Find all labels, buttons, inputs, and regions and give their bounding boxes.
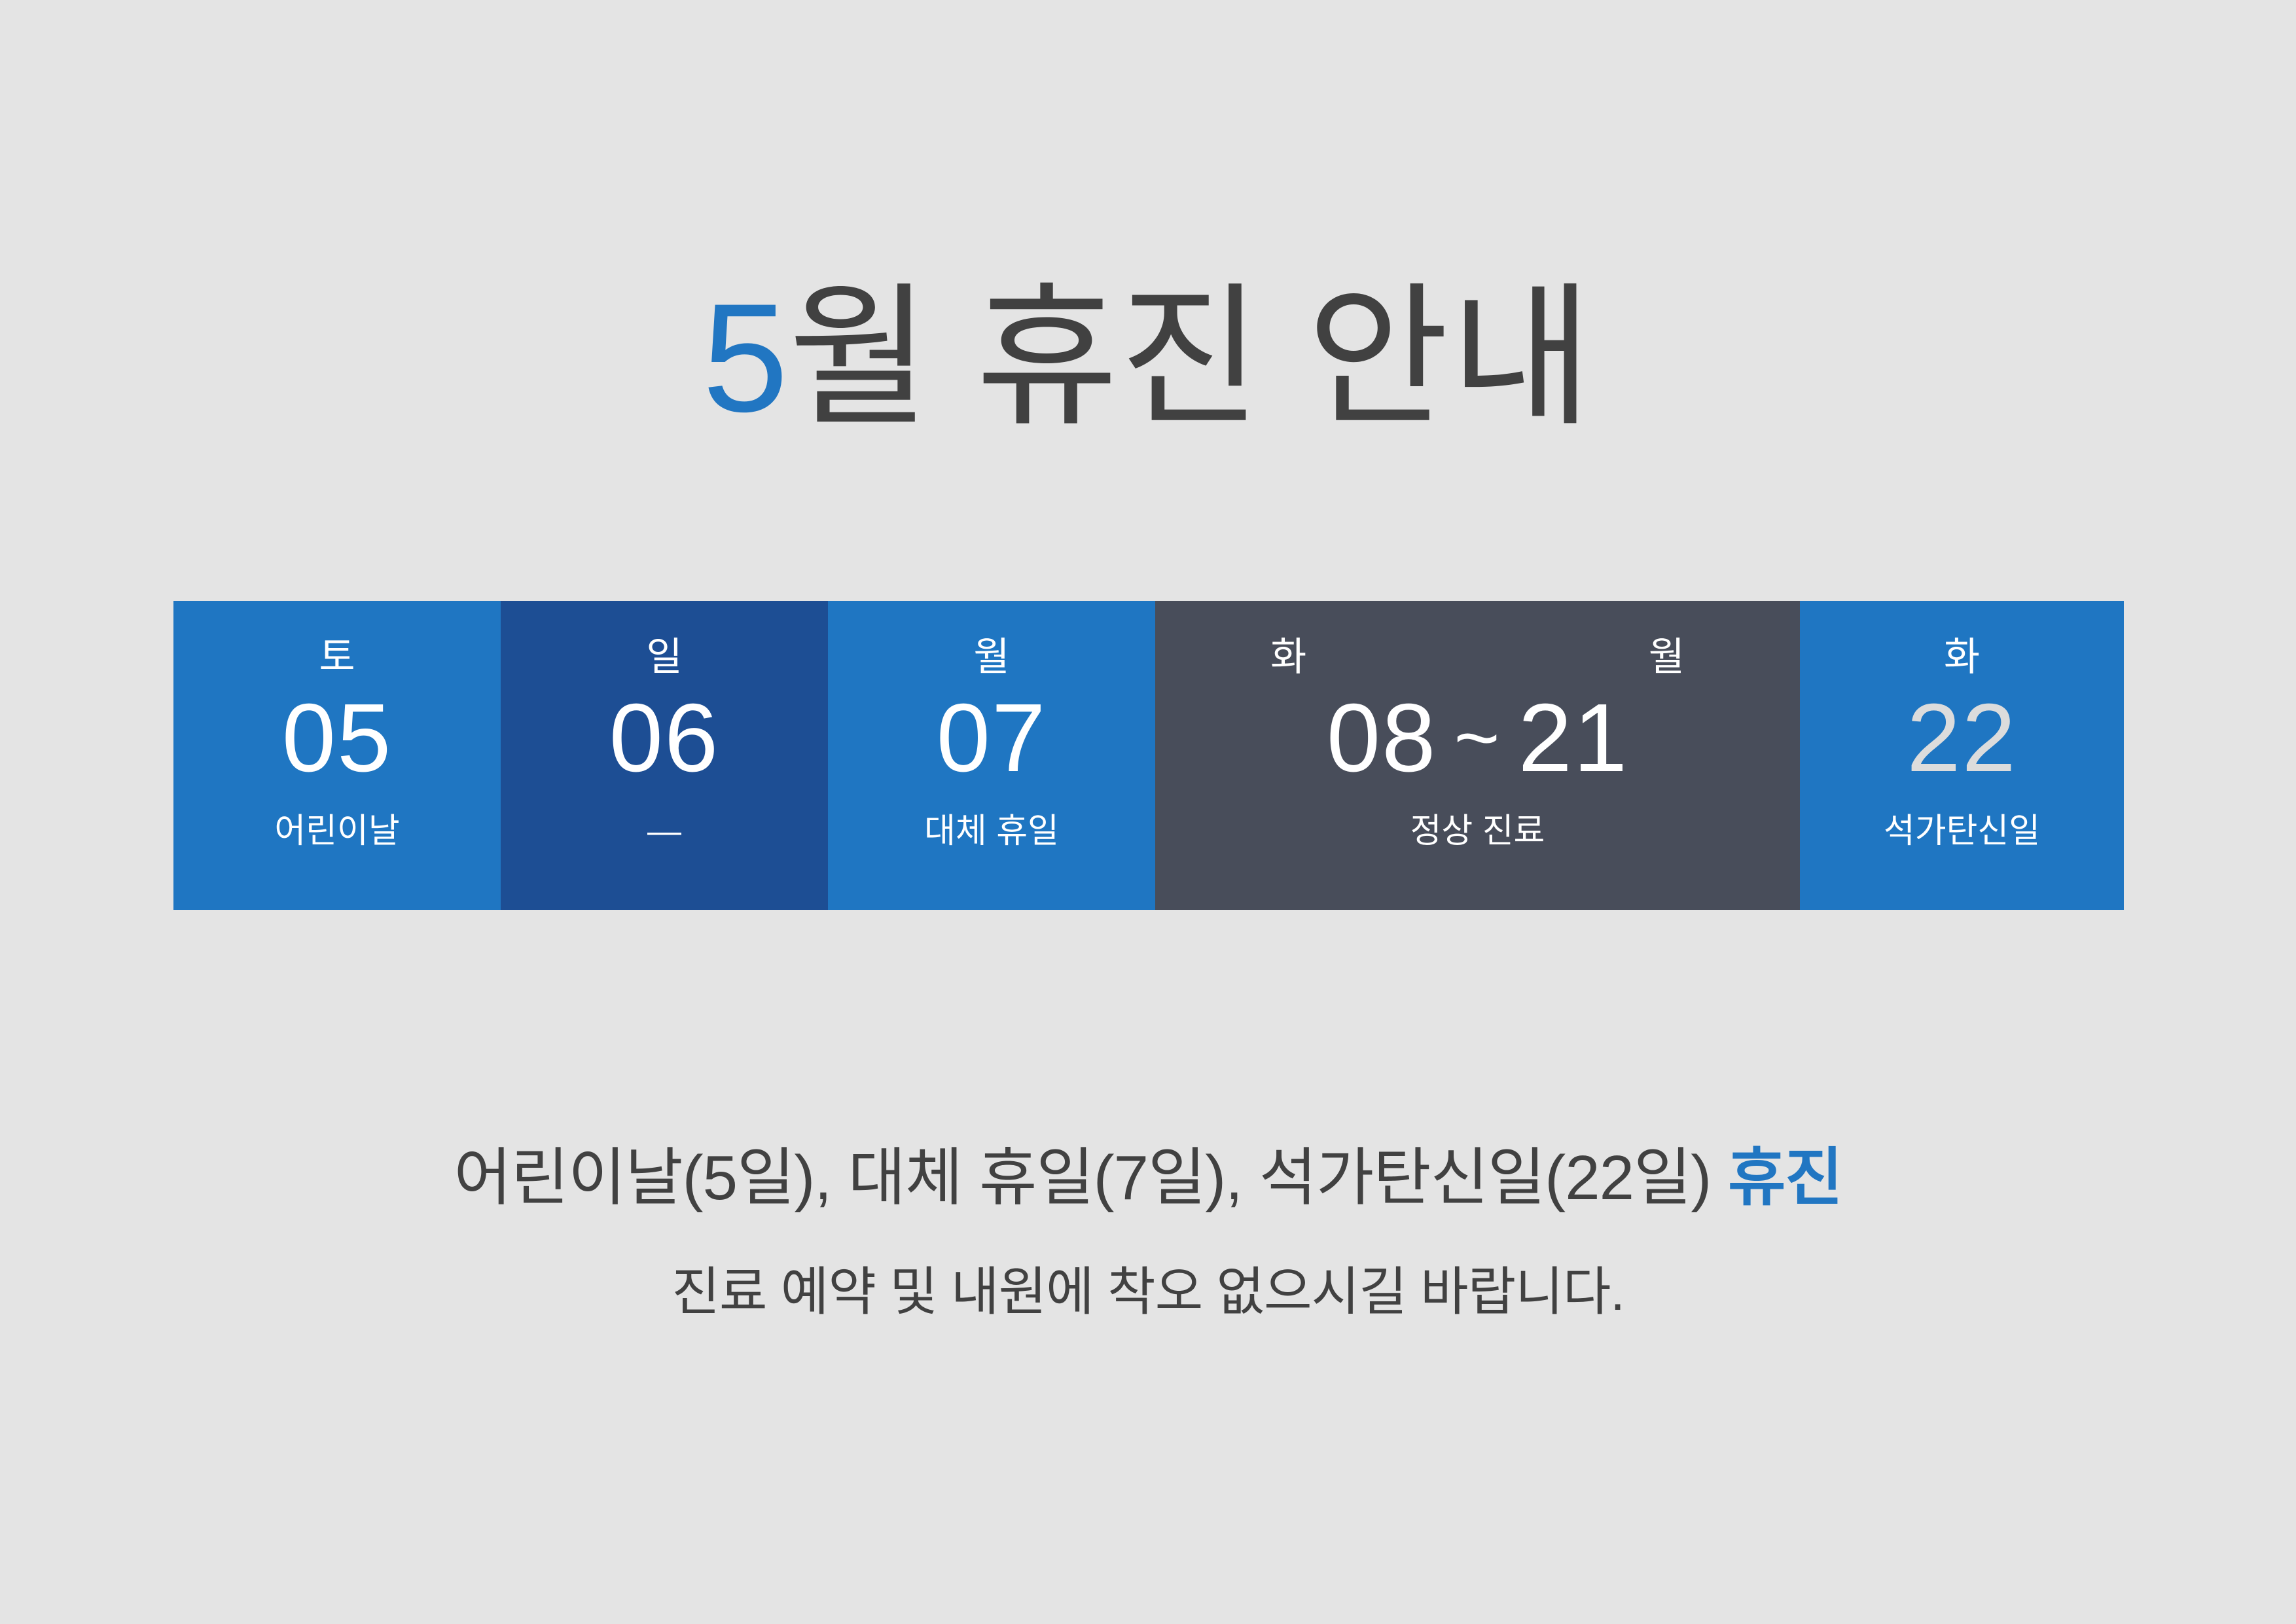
footer-line-advisory: 진료 예약 및 내원에 착오 없으시길 바랍니다. <box>0 1266 2296 1318</box>
title-month-number: 5 <box>702 272 788 444</box>
calendar-cell-22[interactable]: 화 22 석가탄신일 <box>1800 601 2124 910</box>
day-number-start: 08 <box>1327 684 1437 792</box>
weekday-label: 월 <box>973 638 1009 677</box>
title-rest-text: 월 휴진 안내 <box>788 272 1594 444</box>
footer-closed-highlight: 휴진 <box>1728 1143 1842 1213</box>
day-note: 대체 휴일 <box>924 814 1059 848</box>
calendar-cell-06[interactable]: 일 06 — <box>501 601 828 910</box>
weekday-row: 일 <box>501 638 828 686</box>
calendar-cell-05[interactable]: 토 05 어린이날 <box>173 601 501 910</box>
weekday-label: 일 <box>646 638 682 677</box>
weekday-row: 화 <box>1800 638 2124 686</box>
day-range-separator: ~ <box>1437 694 1518 782</box>
calendar-cell-07[interactable]: 월 07 대체 휴일 <box>828 601 1155 910</box>
day-number: 22 <box>1907 690 2017 787</box>
day-number: 06 <box>609 690 720 787</box>
day-note: — <box>647 814 681 848</box>
calendar-bar: 토 05 어린이날 일 06 — 월 07 대체 휴일 화 월 08~21 정상… <box>173 601 2124 910</box>
page-title: 5월 휴진 안내 <box>0 264 2296 453</box>
footer-notes: 어린이날(5일), 대체 휴일(7일), 석가탄신일(22일) 휴진 진료 예약… <box>0 1147 2296 1318</box>
weekday-label-start: 화 <box>1270 638 1306 677</box>
weekday-row: 월 <box>828 638 1155 686</box>
day-number-end: 21 <box>1518 684 1629 792</box>
day-note: 석가탄신일 <box>1884 814 2040 848</box>
day-note: 정상 진료 <box>1410 814 1545 848</box>
weekday-label: 토 <box>319 638 355 677</box>
footer-line-1-prefix: 어린이날(5일), 대체 휴일(7일), 석가탄신일(22일) <box>454 1143 1728 1213</box>
calendar-cell-08-21[interactable]: 화 월 08~21 정상 진료 <box>1155 601 1800 910</box>
weekday-label-end: 월 <box>1649 638 1685 677</box>
footer-line-closed-days: 어린이날(5일), 대체 휴일(7일), 석가탄신일(22일) 휴진 <box>0 1147 2296 1210</box>
day-number: 05 <box>282 690 393 787</box>
weekday-label: 화 <box>1944 638 1980 677</box>
day-number-range: 08~21 <box>1327 690 1628 787</box>
day-number: 07 <box>937 690 1047 787</box>
weekday-row-range: 화 월 <box>1155 638 1800 686</box>
weekday-row: 토 <box>173 638 501 686</box>
day-note: 어린이날 <box>274 814 399 848</box>
